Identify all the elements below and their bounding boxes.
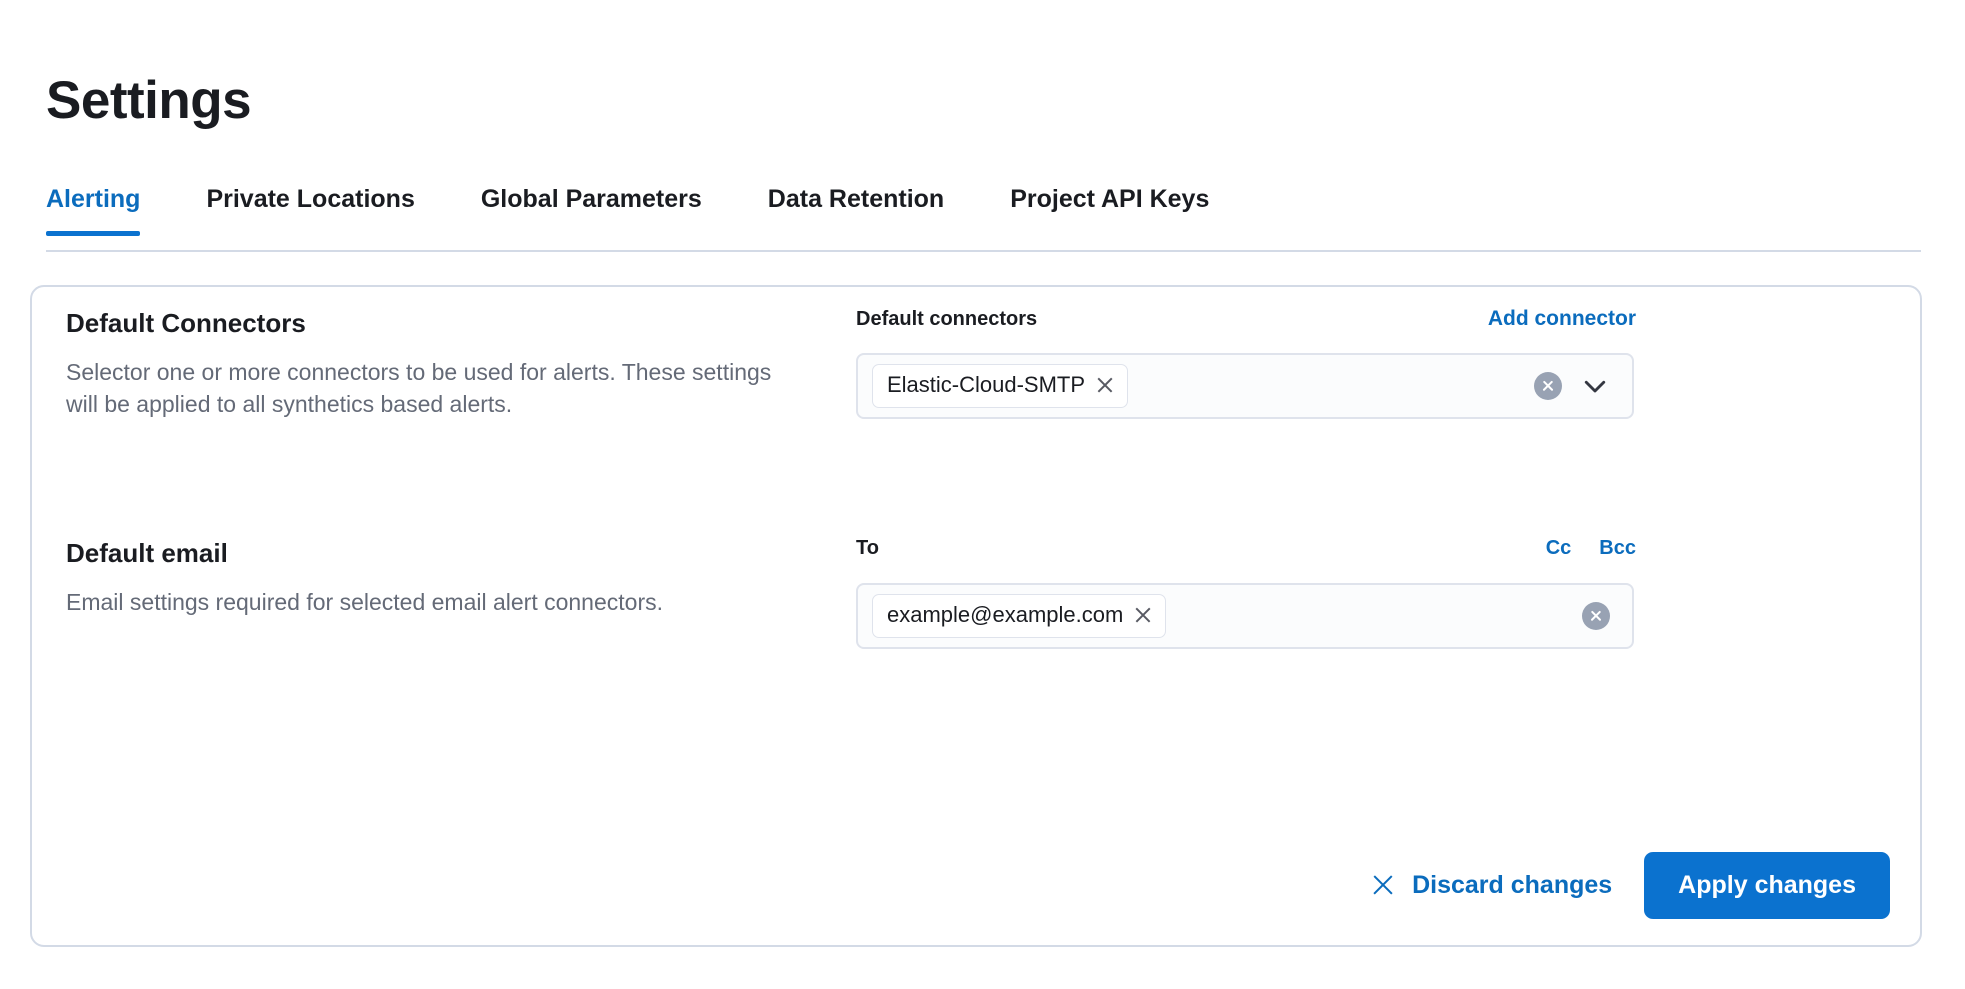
- default-connectors-row: Default Connectors Selector one or more …: [66, 307, 1886, 421]
- cross-icon: [1372, 874, 1394, 896]
- default-connectors-label: Default connectors: [856, 308, 1037, 331]
- to-email-combobox[interactable]: example@example.com: [856, 583, 1634, 649]
- default-connectors-control-column: Default connectors Add connector Elastic…: [856, 307, 1636, 421]
- default-connectors-combobox[interactable]: Elastic-Cloud-SMTP: [856, 353, 1634, 419]
- connector-token[interactable]: Elastic-Cloud-SMTP: [872, 364, 1128, 407]
- discard-changes-label: Discard changes: [1412, 871, 1612, 900]
- email-token-label: example@example.com: [887, 602, 1123, 628]
- apply-changes-button[interactable]: Apply changes: [1644, 852, 1890, 920]
- cc-link[interactable]: Cc: [1546, 537, 1572, 560]
- tab-data-retention[interactable]: Data Retention: [768, 185, 944, 236]
- add-connector-link[interactable]: Add connector: [1488, 307, 1636, 331]
- default-email-heading: Default email: [66, 537, 816, 570]
- remove-connector-token-icon[interactable]: [1096, 376, 1114, 394]
- alerting-settings-panel: Default Connectors Selector one or more …: [30, 285, 1922, 947]
- default-email-row: Default email Email settings required fo…: [66, 537, 1886, 649]
- default-email-control-column: To Cc Bcc example@example.com: [856, 537, 1636, 649]
- tab-bar-divider: [46, 250, 1921, 252]
- remove-email-token-icon[interactable]: [1134, 606, 1152, 624]
- panel-footer-actions: Discard changes Apply changes: [1366, 852, 1890, 920]
- cc-bcc-links: Cc Bcc: [1546, 537, 1636, 560]
- default-connectors-field-header: Default connectors Add connector: [856, 307, 1636, 337]
- tab-alerting[interactable]: Alerting: [46, 185, 140, 236]
- discard-changes-button[interactable]: Discard changes: [1366, 861, 1618, 910]
- default-email-description-column: Default email Email settings required fo…: [66, 537, 856, 649]
- clear-emails-icon[interactable]: [1582, 602, 1610, 630]
- bcc-link[interactable]: Bcc: [1599, 537, 1636, 560]
- tab-project-api-keys[interactable]: Project API Keys: [1010, 185, 1209, 236]
- chevron-down-icon[interactable]: [1580, 371, 1610, 401]
- default-connectors-description-column: Default Connectors Selector one or more …: [66, 307, 856, 421]
- page-title: Settings: [46, 72, 251, 130]
- settings-tab-bar: Alerting Private Locations Global Parame…: [46, 185, 1209, 236]
- tab-global-parameters[interactable]: Global Parameters: [481, 185, 702, 236]
- to-label: To: [856, 537, 879, 560]
- default-email-field-header: To Cc Bcc: [856, 537, 1636, 567]
- connector-token-label: Elastic-Cloud-SMTP: [887, 372, 1085, 398]
- clear-connectors-icon[interactable]: [1534, 372, 1562, 400]
- default-connectors-description: Selector one or more connectors to be us…: [66, 356, 806, 421]
- email-token[interactable]: example@example.com: [872, 594, 1166, 637]
- settings-page: Settings Alerting Private Locations Glob…: [0, 0, 1965, 989]
- default-email-description: Email settings required for selected ema…: [66, 586, 806, 619]
- tab-private-locations[interactable]: Private Locations: [206, 185, 414, 236]
- default-connectors-heading: Default Connectors: [66, 307, 816, 340]
